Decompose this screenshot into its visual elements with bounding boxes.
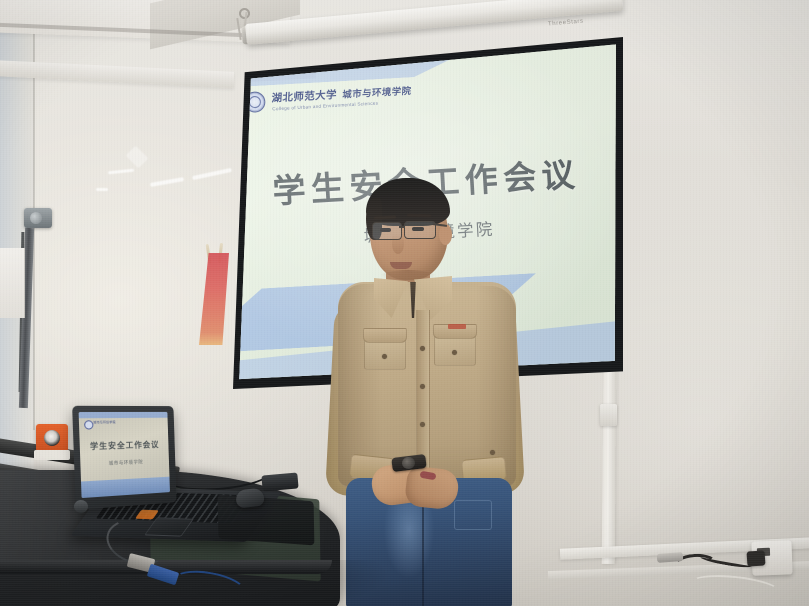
ear bbox=[439, 224, 452, 245]
laptop-slide-seal-icon bbox=[84, 420, 93, 429]
laptop-slide-bottom-band bbox=[81, 477, 170, 498]
device-dial-icon[interactable] bbox=[44, 430, 60, 446]
device-base bbox=[34, 450, 70, 460]
pocket-button bbox=[452, 350, 457, 355]
bracket-knob-icon bbox=[30, 212, 42, 224]
classroom-photo: ThreeStars 湖北师范大学城市与环境学院 College of Urba… bbox=[0, 0, 809, 606]
cable-connector bbox=[657, 552, 684, 563]
conduit-junction-box bbox=[600, 404, 617, 426]
shirt-brand-tag bbox=[448, 324, 466, 329]
glasses-lens-right bbox=[404, 221, 436, 239]
laptop-slide-school-name: 城市与环境学院 bbox=[93, 420, 115, 424]
laptop-screen: 城市与环境学院 学生安全工作会议 城市与环境学院 bbox=[79, 412, 170, 498]
left-wall-panel bbox=[0, 248, 25, 318]
shirt-button bbox=[420, 422, 425, 427]
glasses-bridge bbox=[399, 226, 405, 228]
computer-mouse[interactable] bbox=[235, 488, 265, 509]
laptop-lid[interactable]: 城市与环境学院 学生安全工作会议 城市与环境学院 bbox=[72, 406, 176, 510]
slide-school-names: 湖北师范大学城市与环境学院 College of Urban and Envir… bbox=[271, 82, 412, 112]
shirt-button bbox=[420, 384, 425, 389]
laptop-slide-subtitle: 城市与环境学院 bbox=[80, 458, 169, 468]
shirt-button bbox=[420, 346, 425, 351]
mousepad bbox=[218, 495, 315, 546]
presenter bbox=[330, 178, 520, 606]
laptop-slide-title: 学生安全工作会议 bbox=[80, 439, 169, 452]
power-adapter bbox=[261, 472, 298, 491]
jeans-pocket bbox=[454, 500, 492, 530]
power-plug[interactable] bbox=[746, 550, 765, 566]
nose bbox=[392, 234, 404, 254]
mouth bbox=[390, 262, 412, 269]
slide-header: 湖北师范大学城市与环境学院 College of Urban and Envir… bbox=[244, 82, 413, 113]
wall-scuff bbox=[96, 188, 108, 191]
cuff-button bbox=[490, 450, 495, 455]
pocket-button bbox=[382, 354, 387, 359]
shirt-pocket-flap-left bbox=[363, 328, 407, 343]
laptop-slide-top-band bbox=[79, 412, 168, 418]
